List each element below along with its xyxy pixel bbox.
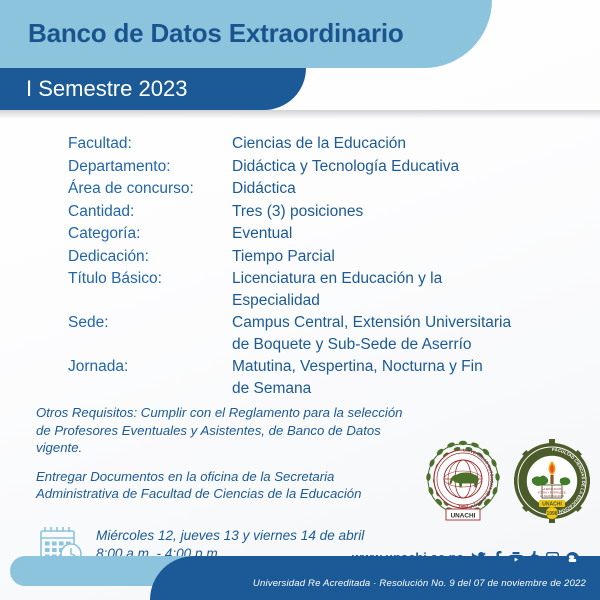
- note-requirements: Otros Requisitos: Cumplir con el Reglame…: [36, 404, 408, 457]
- detail-label: Dedicación:: [68, 246, 232, 268]
- detail-value-line1: Campus Central, Extensión Universitaria: [232, 314, 511, 331]
- table-row: Título Básico: Licenciatura en Educación…: [68, 268, 578, 311]
- detail-label: Cantidad:: [68, 201, 232, 223]
- table-row: Área de concurso: Didáctica: [68, 178, 578, 200]
- detail-label: Jornada:: [68, 356, 232, 378]
- facebook-icon[interactable]: [493, 551, 502, 565]
- detail-value-line1: Didáctica: [232, 180, 296, 197]
- page-title: Banco de Datos Extraordinario: [28, 18, 404, 49]
- note-documents: Entregar Documentos en la oficina de la …: [36, 468, 408, 503]
- svg-text:1994: 1994: [458, 504, 469, 509]
- table-row: Jornada: Matutina, Vespertina, Nocturna …: [68, 356, 578, 399]
- detail-value: Tres (3) posiciones: [232, 201, 578, 223]
- blogger-icon[interactable]: [566, 552, 579, 565]
- header-subtitle: I Semestre 2023: [26, 76, 187, 102]
- detail-value-line1: Didáctica y Tecnología Educativa: [232, 158, 459, 175]
- accreditation-text: Universidad Re Acreditada · Resolución N…: [0, 578, 600, 589]
- seals-group: UNACHI 1994 UNIVERSIDAD AUTÓNOMA DE CHIR…: [424, 437, 592, 529]
- detail-label: Facultad:: [68, 133, 232, 155]
- detail-value-line1: Tres (3) posiciones: [232, 203, 363, 220]
- detail-value: Didáctica: [232, 178, 578, 200]
- requirements-notes: Otros Requisitos: Cumplir con el Reglame…: [36, 404, 408, 514]
- detail-value-line2: de Boquete y Sub-Sede de Aserrío: [232, 334, 578, 356]
- website-link[interactable]: www.unachi.ac.pa: [352, 551, 464, 565]
- instagram-icon[interactable]: [546, 552, 559, 565]
- schedule-dates: Miércoles 12, jueves 13 y viernes 14 de …: [96, 528, 364, 543]
- unachi-university-seal: UNACHI 1994 UNIVERSIDAD AUTÓNOMA DE CHIR…: [424, 437, 502, 525]
- detail-value-line1: Tiempo Parcial: [232, 248, 335, 265]
- header-shadow: [0, 110, 600, 119]
- svg-text:UNACHI: UNACHI: [451, 513, 476, 520]
- detail-value-line2: de Semana: [232, 378, 578, 400]
- detail-value: Matutina, Vespertina, Nocturna y Fin de …: [232, 356, 578, 399]
- detail-value: Ciencias de la Educación: [232, 133, 578, 155]
- svg-text:LA NACIONALIDAD: LA NACIONALIDAD: [540, 494, 564, 498]
- detail-label: Título Básico:: [68, 268, 232, 290]
- detail-label: Categoría:: [68, 223, 232, 245]
- detail-label: Sede:: [68, 312, 232, 334]
- detail-value: Didáctica y Tecnología Educativa: [232, 156, 578, 178]
- svg-text:1998: 1998: [546, 511, 557, 517]
- detail-value-line1: Licenciatura en Educación y la: [232, 270, 442, 287]
- svg-text:FORJA Y FORTALECE: FORJA Y FORTALECE: [538, 490, 566, 494]
- detail-label: Departamento:: [68, 156, 232, 178]
- detail-value-line1: Eventual: [232, 225, 292, 242]
- poster-canvas: Banco de Datos Extraordinario I Semestre…: [0, 0, 600, 600]
- table-row: Departamento: Didáctica y Tecnología Edu…: [68, 156, 578, 178]
- detail-value: Licenciatura en Educación y la Especiali…: [232, 268, 578, 311]
- footer-links: www.unachi.ac.pa: [352, 551, 579, 565]
- table-row: Sede: Campus Central, Extensión Universi…: [68, 312, 578, 355]
- svg-text:UNACHI: UNACHI: [542, 501, 562, 507]
- detail-label: Área de concurso:: [68, 178, 232, 200]
- table-row: Cantidad: Tres (3) posiciones: [68, 201, 578, 223]
- social-icons: [471, 551, 579, 565]
- detail-value: Campus Central, Extensión Universitaria …: [232, 312, 578, 355]
- table-row: Categoría: Eventual: [68, 223, 578, 245]
- detail-value-line1: Ciencias de la Educación: [232, 135, 406, 152]
- youtube-icon[interactable]: [509, 552, 523, 565]
- tumblr-icon[interactable]: [530, 551, 539, 565]
- detail-value: Eventual: [232, 223, 578, 245]
- detail-value-line2: Especialidad: [232, 290, 578, 312]
- detail-value-line1: Matutina, Vespertina, Nocturna y Fin: [232, 358, 483, 375]
- twitter-icon[interactable]: [471, 552, 486, 565]
- details-table: Facultad: Ciencias de la Educación Depar…: [68, 133, 578, 400]
- table-row: Facultad: Ciencias de la Educación: [68, 133, 578, 155]
- table-row: Dedicación: Tiempo Parcial: [68, 246, 578, 268]
- detail-value: Tiempo Parcial: [232, 246, 578, 268]
- faculty-education-seal: LA EDUCACIÓN FORJA Y FORTALECE LA NACION…: [512, 437, 592, 525]
